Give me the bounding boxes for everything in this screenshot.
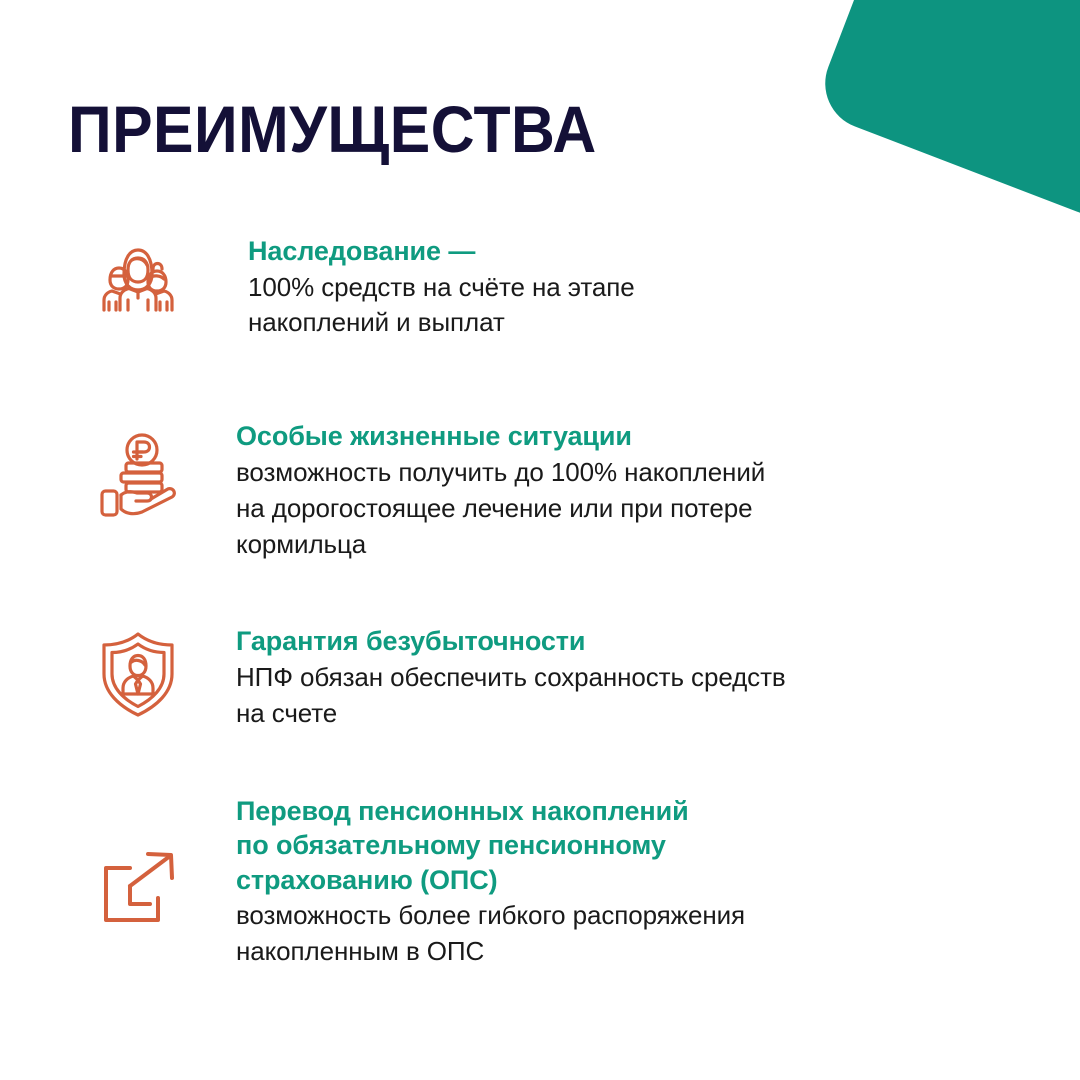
- benefit-item-inheritance: Наследование — 100% средств на счёте на …: [0, 228, 1080, 341]
- benefit-description: возможность более гибкого распоряжения н…: [236, 898, 1080, 970]
- benefit-text-block: Перевод пенсионных накоплений по обязате…: [188, 788, 1080, 970]
- benefit-heading: Гарантия безубыточности: [236, 624, 1080, 659]
- benefit-heading: Перевод пенсионных накоплений по обязате…: [236, 794, 1080, 898]
- benefit-item-ops-transfer: Перевод пенсионных накоплений по обязате…: [0, 788, 1080, 970]
- benefit-text-block: Гарантия безубыточности НПФ обязан обесп…: [188, 618, 1080, 731]
- benefit-heading: Наследование —: [248, 234, 1080, 269]
- hand-holding-ruble-coins-icon: [88, 427, 188, 527]
- benefit-item-break-even-guarantee: Гарантия безубыточности НПФ обязан обесп…: [0, 618, 1080, 731]
- transfer-arrow-out-icon: [88, 840, 188, 940]
- benefit-description: возможность получить до 100% накоплений …: [236, 455, 1080, 563]
- benefit-description: НПФ обязан обеспечить сохранность средст…: [236, 660, 1080, 732]
- benefit-text-block: Наследование — 100% средств на счёте на …: [188, 228, 1080, 341]
- page-title: ПРЕИМУЩЕСТВА: [68, 96, 597, 163]
- shield-with-person-icon: [88, 624, 188, 724]
- benefit-item-special-situations: Особые жизненные ситуации возможность по…: [0, 413, 1080, 562]
- green-rounded-square-shape: [820, 0, 1080, 228]
- slide-root: ПРЕИМУЩЕСТВА: [0, 0, 1080, 1080]
- benefits-list: Наследование — 100% средств на счёте на …: [0, 228, 1080, 970]
- benefit-heading: Особые жизненные ситуации: [236, 419, 1080, 454]
- benefit-text-block: Особые жизненные ситуации возможность по…: [188, 413, 1080, 562]
- benefit-description: 100% средств на счёте на этапе накоплени…: [248, 270, 1080, 342]
- family-group-icon: [88, 230, 188, 330]
